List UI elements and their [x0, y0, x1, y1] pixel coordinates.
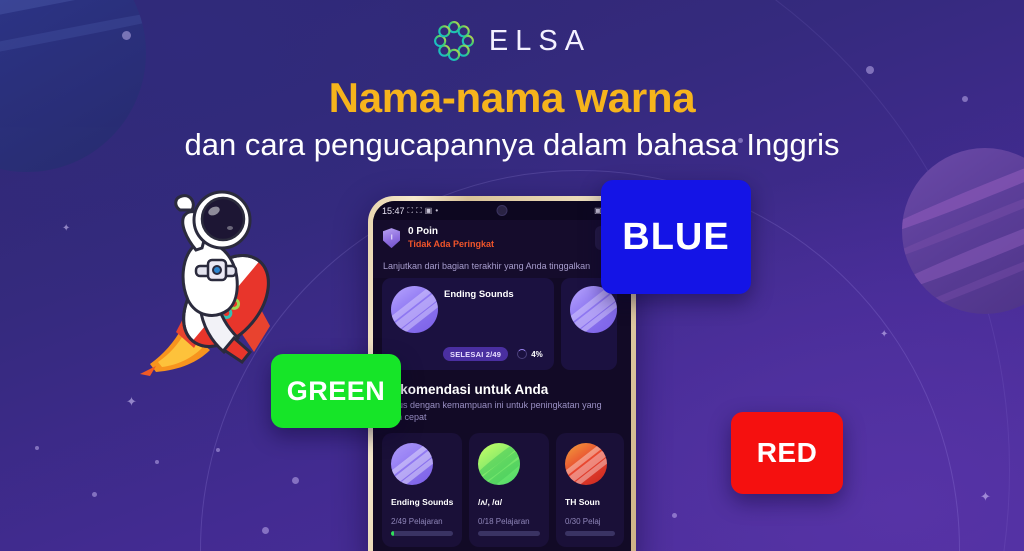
- sparkle-icon: ✦: [126, 395, 137, 408]
- page-subtitle: dan cara pengucapannya dalam bahasa Ingg…: [0, 127, 1024, 163]
- status-bar: 15:47 ⛶ ⛶ ▣ • ▣ ◀ ▰: [373, 201, 631, 220]
- astronaut-rocket-illustration: [138, 186, 288, 376]
- sparkle-icon: ✦: [62, 224, 70, 234]
- dot-icon: •: [435, 206, 438, 215]
- course-status-pill: SELESAI 2/49: [443, 347, 508, 361]
- skill-planet-icon: [565, 443, 607, 485]
- skill-progress-bar: [565, 531, 615, 536]
- status-time: 15:47: [382, 206, 405, 216]
- color-card-green: GREEN: [271, 354, 401, 428]
- star-dot: [216, 448, 220, 452]
- star-dot: [672, 513, 677, 518]
- phone-screen: 15:47 ⛶ ⛶ ▣ • ▣ ◀ ▰ 0 Poin Tidak Ada Per…: [373, 201, 631, 551]
- progress-ring-icon: [517, 349, 527, 359]
- front-camera-icon: [497, 205, 508, 216]
- star-dot: [292, 477, 299, 484]
- points-value: 0 Poin: [408, 226, 494, 239]
- list-item[interactable]: /ʌ/, /ɑ/ 0/18 Pelajaran: [469, 433, 549, 547]
- image-icon: ▣: [425, 206, 433, 215]
- skill-name: Ending Sounds: [391, 497, 453, 507]
- course-percent: 4%: [517, 349, 543, 359]
- skill-name: TH Soun: [565, 497, 615, 507]
- planet-right-icon: [902, 148, 1024, 314]
- cast-icon: ⛶: [416, 206, 422, 216]
- course-planet-icon: [391, 286, 438, 333]
- sparkle-icon: ✦: [980, 490, 991, 503]
- color-card-red: RED: [731, 412, 843, 494]
- recommendation-subtitle: Fokus dengan kemampuan ini untuk peningk…: [373, 399, 631, 423]
- page-title: Nama-nama warna: [0, 74, 1024, 122]
- skill-name: /ʌ/, /ɑ/: [478, 497, 540, 507]
- star-dot: [866, 66, 874, 74]
- elsa-flower-logo-icon: [433, 20, 475, 62]
- rank-status: Tidak Ada Peringkat: [408, 239, 494, 251]
- skill-planet-icon: [478, 443, 520, 485]
- star-dot: [35, 446, 39, 450]
- points-header: 0 Poin Tidak Ada Peringkat 🔥: [373, 220, 631, 257]
- star-dot: [92, 492, 97, 497]
- skill-lesson-count: 0/30 Pelaj: [565, 517, 615, 526]
- brand-name: ELSA: [489, 25, 591, 58]
- list-item[interactable]: Ending Sounds 2/49 Pelajaran: [382, 433, 462, 547]
- star-dot: [155, 460, 159, 464]
- star-dot: [262, 527, 269, 534]
- skill-planet-icon: [391, 443, 433, 485]
- shield-badge-icon: [383, 228, 400, 248]
- skill-progress-bar: [391, 531, 453, 536]
- poster-canvas: ✦ ✦ ✦ ✦ ELS: [0, 0, 1024, 551]
- skill-progress-bar: [478, 531, 540, 536]
- continue-text: Lanjutkan dari bagian terakhir yang Anda…: [373, 257, 631, 278]
- color-card-blue: BLUE: [601, 180, 751, 294]
- recommendation-list[interactable]: Ending Sounds 2/49 Pelajaran /ʌ/, /ɑ/ 0/…: [373, 423, 631, 547]
- current-course-card[interactable]: Ending Sounds SELESAI 2/49 4%: [382, 278, 554, 370]
- course-title: Ending Sounds: [444, 286, 514, 300]
- brand-logo: ELSA: [0, 20, 1024, 62]
- list-item[interactable]: TH Soun 0/30 Pelaj: [556, 433, 624, 547]
- current-course-carousel[interactable]: Ending Sounds SELESAI 2/49 4%: [373, 278, 631, 370]
- sparkle-icon: ✦: [880, 330, 888, 340]
- phone-mockup: 15:47 ⛶ ⛶ ▣ • ▣ ◀ ▰ 0 Poin Tidak Ada Per…: [368, 196, 636, 551]
- screenshot-icon: ⛶: [408, 206, 414, 216]
- recommendation-title: Rekomendasi untuk Anda: [373, 370, 631, 399]
- skill-lesson-count: 2/49 Pelajaran: [391, 517, 453, 526]
- skill-lesson-count: 0/18 Pelajaran: [478, 517, 540, 526]
